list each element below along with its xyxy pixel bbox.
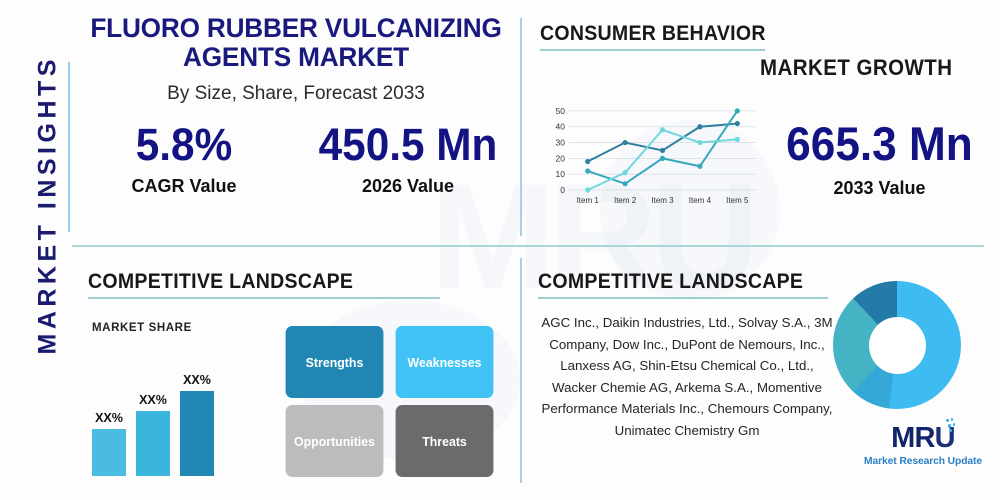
logo-mark-mr: MR [891, 422, 935, 454]
donut-chart-hole [869, 317, 926, 374]
svg-text:Item 2: Item 2 [614, 196, 637, 205]
divider-vertical-left [68, 62, 70, 232]
kpi-2026: 450.5 Mn 2026 Value [296, 122, 520, 197]
svg-text:50: 50 [556, 106, 566, 116]
section-rule [88, 297, 440, 299]
kpi-row: 5.8% CAGR Value 450.5 Mn 2026 Value [72, 122, 520, 197]
swot-box-label: Weaknesses [408, 355, 482, 370]
section-title-competitive-right: COMPETITIVE LANDSCAPE [538, 270, 808, 294]
bar-chart: MARKET SHARE XX%XX%XX% [92, 322, 214, 476]
divider-vertical-middle-top [520, 18, 522, 236]
company-list: AGC Inc., Daikin Industries, Ltd., Solva… [538, 312, 836, 441]
market-growth-value: 665.3 Mn [778, 120, 980, 167]
kpi-2026-label: 2026 Value [296, 176, 520, 197]
donut-chart [833, 281, 961, 409]
infographic-canvas: MRU MARKET INSIGHTS FLUORO RUBBER VULCAN… [0, 0, 1000, 500]
market-growth-title: MARKET GROWTH [760, 55, 952, 81]
section-title-consumer-behavior: CONSUMER BEHAVIOR [540, 22, 749, 46]
title-block: FLUORO RUBBER VULCANIZING AGENTS MARKET … [72, 14, 520, 105]
bar-column: XX% [92, 338, 126, 476]
svg-text:0: 0 [560, 185, 565, 195]
svg-text:Item 1: Item 1 [577, 196, 600, 205]
kpi-cagr-value: 5.8% [79, 122, 290, 167]
bar-chart-caption: MARKET SHARE [92, 322, 214, 334]
section-rule [540, 49, 765, 51]
swot-grid: StrengthsWeaknessesOpportunitiesThreats [283, 326, 496, 477]
swot-box-weaknesses[interactable]: Weaknesses [396, 326, 494, 398]
sidebar-market-insights-label: MARKET INSIGHTS [34, 95, 63, 355]
bar-rect [136, 411, 170, 476]
divider-vertical-middle-bottom [520, 258, 522, 483]
page-subtitle: By Size, Share, Forecast 2033 [72, 83, 520, 105]
swot-box-threats[interactable]: Threats [396, 405, 494, 477]
swot-box-strengths[interactable]: Strengths [286, 326, 384, 398]
svg-text:30: 30 [556, 138, 566, 148]
swot-box-opportunities[interactable]: Opportunities [286, 405, 384, 477]
kpi-cagr: 5.8% CAGR Value [72, 122, 296, 197]
bar-column: XX% [136, 338, 170, 476]
bar-rect [92, 429, 126, 476]
bar-chart-bars: XX%XX%XX% [92, 338, 214, 476]
bar-value-label: XX% [139, 393, 167, 407]
logo-mark: MRU [891, 424, 955, 453]
divider-horizontal [72, 245, 984, 247]
logo-tagline: Market Research Update [852, 456, 994, 467]
section-rule [538, 297, 828, 299]
swot-box-label: Opportunities [294, 434, 375, 449]
svg-text:Item 5: Item 5 [726, 196, 749, 205]
svg-text:40: 40 [556, 122, 566, 132]
section-title-competitive-left: COMPETITIVE LANDSCAPE [88, 270, 415, 294]
section-header-competitive-left: COMPETITIVE LANDSCAPE [88, 270, 440, 299]
market-growth-label: 2033 Value [772, 178, 987, 199]
page-title: FLUORO RUBBER VULCANIZING AGENTS MARKET [79, 14, 514, 72]
kpi-2026-value: 450.5 Mn [303, 122, 514, 167]
svg-text:10: 10 [556, 169, 566, 179]
bar-value-label: XX% [95, 411, 123, 425]
line-chart-svg: 01020304050Item 1Item 2Item 3Item 4Item … [545, 98, 760, 210]
svg-text:Item 4: Item 4 [689, 196, 712, 205]
donut-chart-ring [833, 281, 961, 409]
bar-column: XX% [180, 338, 214, 476]
bar-rect [180, 391, 214, 476]
kpi-cagr-label: CAGR Value [72, 176, 296, 197]
logo-dots-icon [944, 418, 957, 433]
svg-text:Item 3: Item 3 [651, 196, 674, 205]
line-chart: 01020304050Item 1Item 2Item 3Item 4Item … [545, 98, 760, 215]
section-header-competitive-right: COMPETITIVE LANDSCAPE [538, 270, 828, 299]
mru-logo: MRU Market Research Update [852, 424, 994, 467]
bar-value-label: XX% [183, 373, 211, 387]
swot-box-label: Threats [422, 434, 467, 449]
svg-text:20: 20 [556, 153, 566, 163]
swot-box-label: Strengths [306, 355, 364, 370]
section-header-consumer-behavior: CONSUMER BEHAVIOR [540, 22, 765, 51]
